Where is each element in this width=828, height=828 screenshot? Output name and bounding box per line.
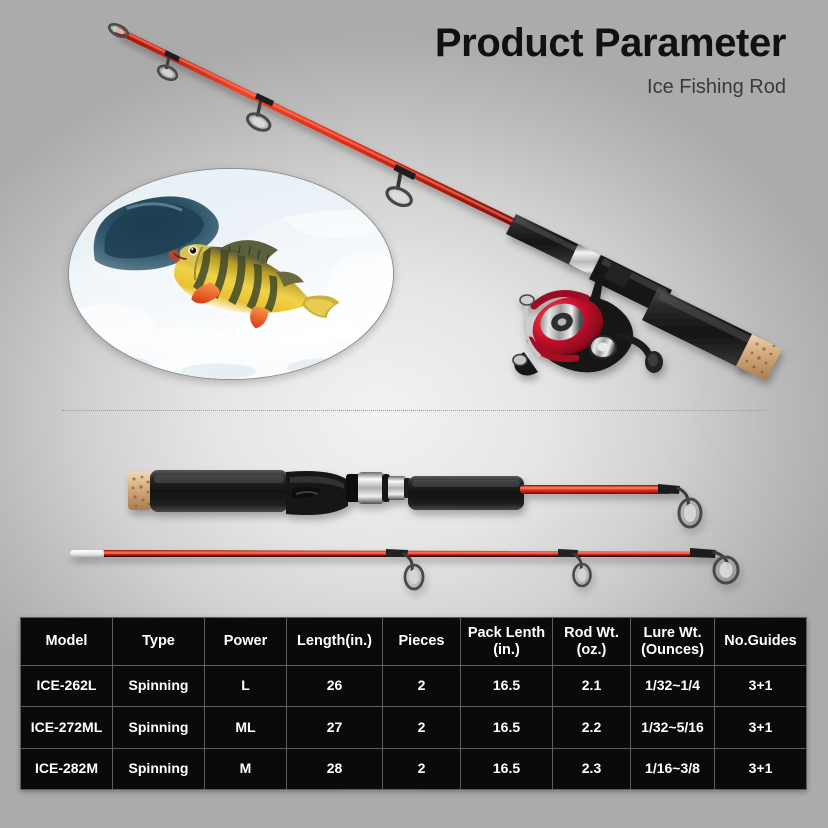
header-line-1: Pack Lenth — [468, 625, 545, 641]
table-row: ICE-262L Spinning L 26 2 16.5 2.1 1/32~1… — [21, 666, 807, 707]
reel-seat-body — [589, 255, 672, 314]
butt-section-tip-guide — [658, 484, 701, 527]
cell-lure-weight: 1/16~3/8 — [631, 748, 715, 789]
rod-sections-image — [0, 430, 828, 605]
page-subtitle: Ice Fishing Rod — [435, 76, 786, 99]
header-line-1: Rod Wt. — [564, 625, 619, 641]
reel-seat-hood — [569, 244, 608, 279]
rod-tip-section — [70, 548, 738, 589]
col-header-length: Length(in.) — [287, 618, 383, 666]
product-parameter-page: Product Parameter Ice Fishing Rod — [0, 0, 828, 828]
cell-lure-weight: 1/32~5/16 — [631, 707, 715, 748]
cell-rod-weight: 2.2 — [553, 707, 631, 748]
col-header-pieces: Pieces — [383, 618, 461, 666]
cell-pieces: 2 — [383, 666, 461, 707]
cell-no-guides: 3+1 — [715, 666, 807, 707]
col-header-type: Type — [113, 618, 205, 666]
cell-rod-weight: 2.3 — [553, 748, 631, 789]
cell-power: M — [205, 748, 287, 789]
cell-pieces: 2 — [383, 748, 461, 789]
header-line-1: Model — [46, 633, 88, 649]
header-line-1: Pieces — [399, 633, 445, 649]
tip-section-tip-guide — [690, 548, 738, 583]
header-line-2: (in.) — [493, 642, 520, 658]
cell-model: ICE-282M — [21, 748, 113, 789]
table-row: ICE-272ML Spinning ML 27 2 16.5 2.2 1/32… — [21, 707, 807, 748]
col-header-power: Power — [205, 618, 287, 666]
cell-no-guides: 3+1 — [715, 707, 807, 748]
section-divider — [62, 410, 766, 411]
rod-butt-section — [128, 470, 701, 527]
col-header-model: Model — [21, 618, 113, 666]
header-line-1: Lure Wt. — [644, 625, 702, 641]
cell-length: 27 — [287, 707, 383, 748]
page-title: Product Parameter — [435, 22, 786, 64]
cell-model: ICE-262L — [21, 666, 113, 707]
cell-length: 26 — [287, 666, 383, 707]
cell-type: Spinning — [113, 707, 205, 748]
tip-section-guide-1 — [386, 549, 423, 589]
fish-photo — [68, 168, 394, 380]
rear-grip — [642, 288, 760, 370]
col-header-no-guides: No.Guides — [715, 618, 807, 666]
cell-type: Spinning — [113, 666, 205, 707]
cork-end-cap-lower — [128, 472, 152, 510]
fore-grip — [506, 214, 582, 266]
specification-table: Model Type Power Length(in.) Pieces Pack… — [20, 617, 807, 790]
spinning-reel — [513, 272, 663, 376]
cell-length: 28 — [287, 748, 383, 789]
table-header-row: Model Type Power Length(in.) Pieces Pack… — [21, 618, 807, 666]
cork-butt-cap — [736, 334, 782, 381]
header-line-2: (Ounces) — [641, 642, 704, 658]
cell-power: ML — [205, 707, 287, 748]
cell-pack-length: 16.5 — [461, 748, 553, 789]
cell-lure-weight: 1/32~1/4 — [631, 666, 715, 707]
header-line-1: Power — [224, 633, 268, 649]
page-header: Product Parameter Ice Fishing Rod — [435, 22, 786, 99]
cell-power: L — [205, 666, 287, 707]
cell-pack-length: 16.5 — [461, 707, 553, 748]
table-row: ICE-282M Spinning M 28 2 16.5 2.3 1/16~3… — [21, 748, 807, 789]
header-line-1: No.Guides — [724, 633, 797, 649]
header-line-1: Type — [142, 633, 175, 649]
col-header-rod-weight: Rod Wt. (oz.) — [553, 618, 631, 666]
perch-on-ice-illustration — [69, 169, 393, 379]
cell-type: Spinning — [113, 748, 205, 789]
cell-no-guides: 3+1 — [715, 748, 807, 789]
tip-section-guide-2 — [558, 549, 591, 586]
header-line-2: (oz.) — [577, 642, 607, 658]
cell-pieces: 2 — [383, 707, 461, 748]
col-header-pack-length: Pack Lenth (in.) — [461, 618, 553, 666]
col-header-lure-weight: Lure Wt. (Ounces) — [631, 618, 715, 666]
cell-pack-length: 16.5 — [461, 666, 553, 707]
cell-model: ICE-272ML — [21, 707, 113, 748]
cell-rod-weight: 2.1 — [553, 666, 631, 707]
header-line-1: Length(in.) — [297, 633, 372, 649]
